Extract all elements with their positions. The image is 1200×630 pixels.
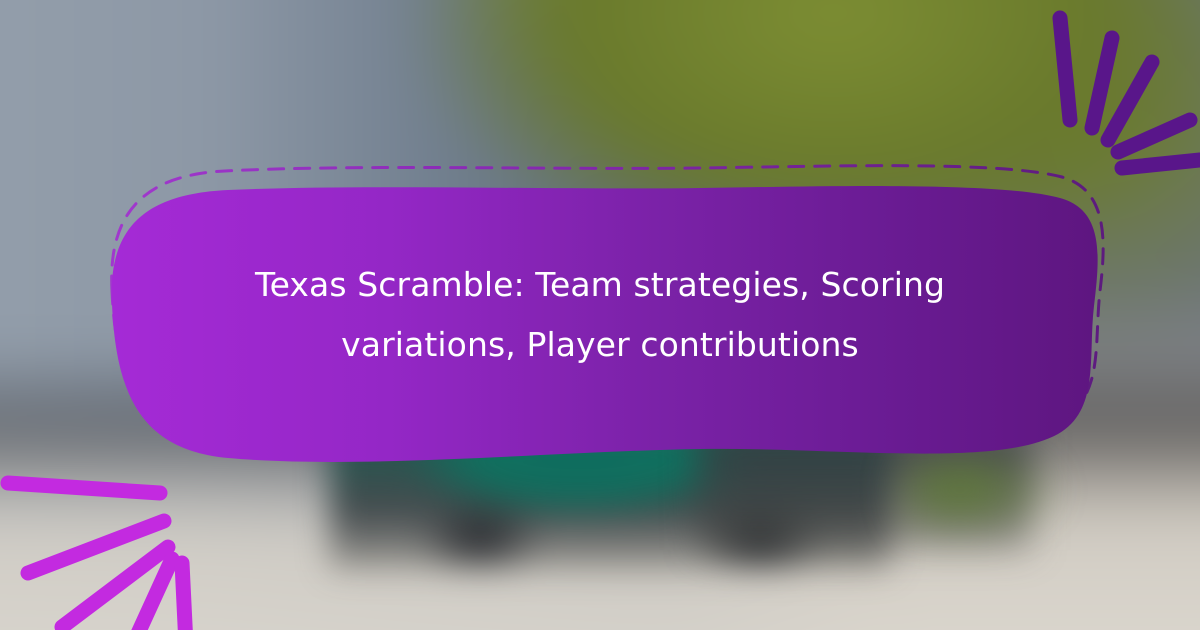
burst-ray [1122,160,1200,168]
background-shrub [900,440,1160,570]
card-title-line-1: Texas Scramble: Team strategies, Scoring [190,255,1010,315]
burst-ray [1118,120,1190,152]
burst-ray [182,563,186,630]
social-card-canvas: Texas Scramble: Team strategies, Scoring… [0,0,1200,630]
burst-ray [1092,38,1112,128]
sparkle-burst-bottom-left [0,455,190,630]
burst-ray [1108,62,1152,140]
card-title: Texas Scramble: Team strategies, Scoring… [190,255,1010,375]
burst-ray [8,483,160,493]
sparkle-burst-top-right [1030,0,1200,170]
card-title-line-2: variations, Player contributions [190,315,1010,375]
burst-rays-bottom-left [8,483,186,630]
burst-rays-top-right [1060,18,1200,168]
burst-ray [1060,18,1070,120]
